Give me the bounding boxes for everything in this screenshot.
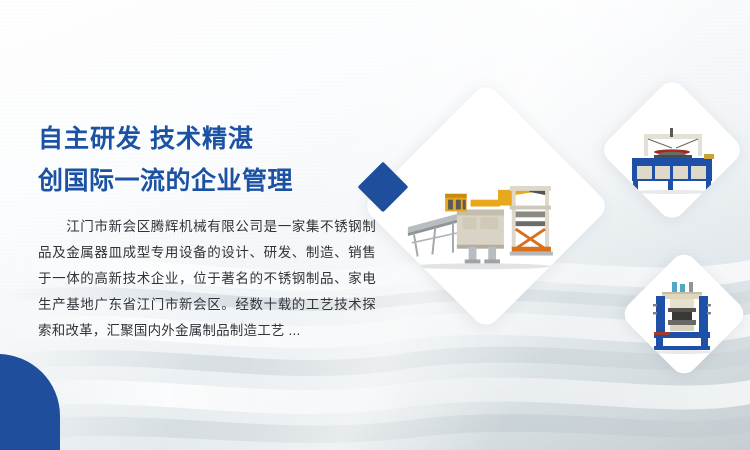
banner-headline: 自主研发 技术精湛 创国际一流的企业管理: [38, 118, 378, 202]
blue-frame-forming-machine-image: [620, 98, 724, 202]
headline-line-2: 创国际一流的企业管理: [38, 160, 378, 202]
production-line-machine-image: [398, 118, 574, 294]
photo-diamond-forming-machine: [598, 76, 745, 223]
company-intro-banner: 自主研发 技术精湛 创国际一流的企业管理 江门市新会区腾辉机械有限公司是一家集不…: [0, 0, 750, 450]
photo-diamond-hydraulic-press: [619, 249, 749, 379]
company-description-text: 江门市新会区腾辉机械有限公司是一家集不锈钢制品及金属器皿成型专用设备的设计、研发…: [38, 214, 376, 344]
blue-hydraulic-press-image: [638, 268, 730, 360]
intro-copy-block: 自主研发 技术精湛 创国际一流的企业管理 江门市新会区腾辉机械有限公司是一家集不…: [38, 118, 378, 344]
headline-line-1: 自主研发 技术精湛: [38, 118, 378, 160]
photo-diamond-production-line: [362, 82, 611, 331]
corner-blue-shape: [0, 354, 60, 450]
